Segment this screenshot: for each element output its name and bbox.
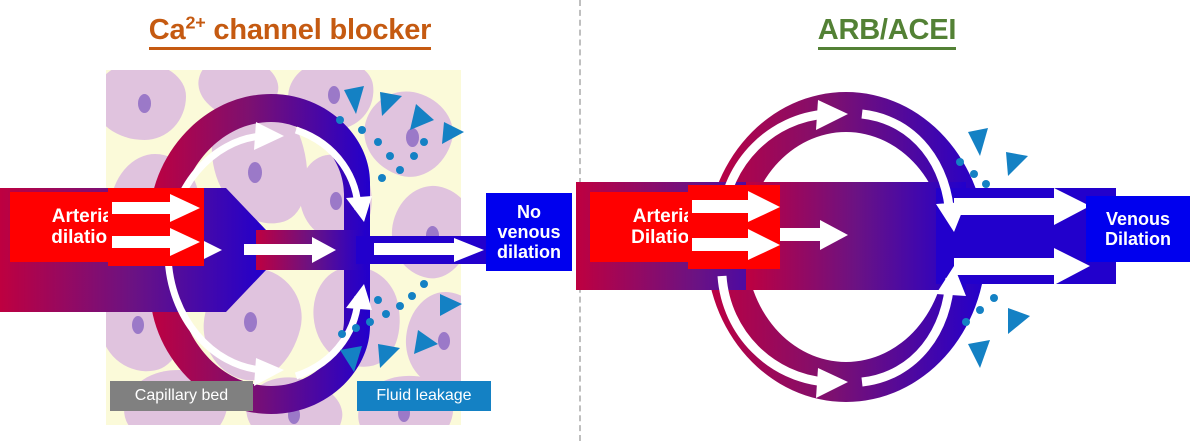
flow-arrowhead-bottom-left bbox=[254, 358, 284, 386]
fluid-leakage-arrows-bottom-right-panel bbox=[946, 292, 1056, 382]
legend-capillary-bed-label: Capillary bed bbox=[135, 387, 228, 405]
legend-capillary-bed: Capillary bed bbox=[110, 381, 253, 411]
no-venous-dilation-label-left: No venous dilation bbox=[486, 193, 572, 271]
venous-label-line3: dilation bbox=[497, 242, 561, 262]
page-title-left: Ca2+ channel blocker bbox=[0, 14, 580, 47]
venous-label-right-line1: Venous bbox=[1105, 209, 1171, 229]
fluid-leakage-arrows-bottom-left-panel bbox=[320, 278, 480, 398]
panel-arb-acei: ARB/ACEI bbox=[580, 0, 1194, 441]
fluid-leakage-arrows-top-left-panel bbox=[320, 78, 480, 208]
title-left-prefix: Ca bbox=[149, 14, 186, 50]
title-left-superscript: 2+ bbox=[185, 12, 205, 32]
flow-arrowhead-top-left bbox=[254, 122, 284, 150]
title-left-suffix: channel blocker bbox=[206, 14, 432, 50]
arterial-inflow-arrows-right bbox=[692, 192, 792, 262]
legend-fluid-leakage-label: Fluid leakage bbox=[376, 387, 471, 405]
venous-label-right-line2: Dilation bbox=[1105, 229, 1171, 249]
title-right-text: ARB/ACEI bbox=[818, 14, 957, 50]
venous-label-line2: venous bbox=[497, 222, 561, 242]
venous-dilation-label-right: Venous Dilation bbox=[1086, 196, 1190, 262]
legend-fluid-leakage: Fluid leakage bbox=[357, 381, 491, 411]
panel-ca-channel-blocker: Ca2+ channel blocker bbox=[0, 0, 580, 441]
arterial-inflow-arrows-left bbox=[112, 194, 212, 260]
fluid-leakage-arrows-top-right-panel bbox=[950, 118, 1060, 208]
page-title-right: ARB/ACEI bbox=[580, 14, 1194, 47]
venous-label-line1: No bbox=[497, 202, 561, 222]
